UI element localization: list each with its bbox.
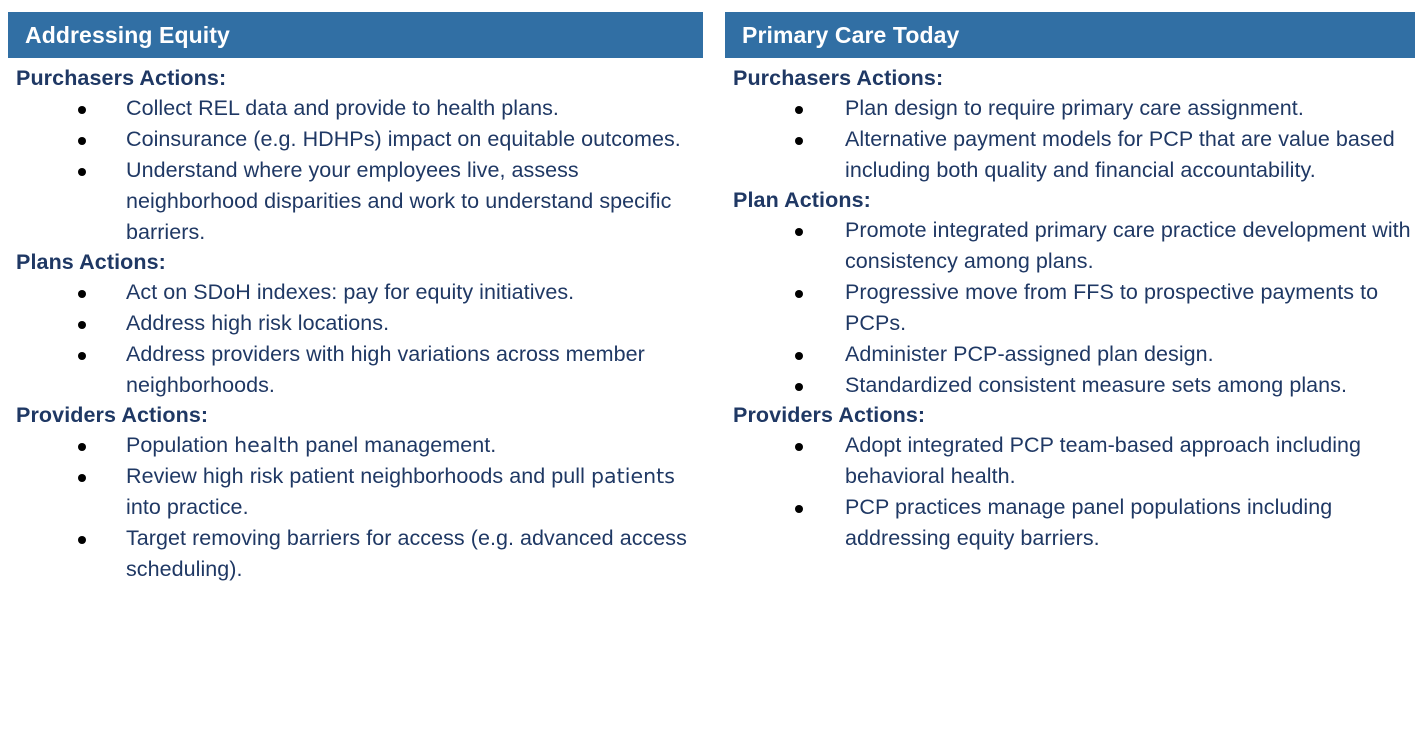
panel-primary-care-today: Primary Care Today Purchasers Actions: P… (711, 0, 1423, 745)
list-item: Coinsurance (e.g. HDHPs) impact on equit… (8, 124, 703, 155)
bullet-list-plan-actions-right: Promote integrated primary care practice… (725, 215, 1415, 401)
list-item: Review high risk patient neighborhoods a… (8, 461, 703, 523)
section-heading-providers-actions-right: Providers Actions: (733, 402, 1415, 429)
list-item: Collect REL data and provide to health p… (8, 93, 703, 124)
list-item: Progressive move from FFS to prospective… (725, 277, 1415, 339)
list-item: Promote integrated primary care practice… (725, 215, 1415, 277)
list-item: Target removing barriers for access (e.g… (8, 523, 703, 585)
alt-face-word: patients (591, 464, 675, 488)
list-item: Address providers with high variations a… (8, 339, 703, 401)
list-item: Alternative payment models for PCP that … (725, 124, 1415, 186)
list-item: Address high risk locations. (8, 308, 703, 339)
slide-root: Addressing Equity Purchasers Actions: Co… (0, 0, 1423, 745)
panel-title-primary-care-today: Primary Care Today (725, 12, 1415, 58)
list-item: Population health panel management. (8, 430, 703, 461)
list-item: Administer PCP-assigned plan design. (725, 339, 1415, 370)
bullet-list-plans-actions-left: Act on SDoH indexes: pay for equity init… (8, 277, 703, 401)
panel-addressing-equity: Addressing Equity Purchasers Actions: Co… (0, 0, 711, 745)
panel-body-addressing-equity: Purchasers Actions: Collect REL data and… (8, 58, 703, 585)
section-heading-providers-actions-left: Providers Actions: (16, 402, 703, 429)
list-item: Plan design to require primary care assi… (725, 93, 1415, 124)
section-heading-plans-actions-left: Plans Actions: (16, 249, 703, 276)
two-column-layout: Addressing Equity Purchasers Actions: Co… (0, 0, 1423, 745)
panel-title-addressing-equity: Addressing Equity (8, 12, 703, 58)
alt-face-word: health (234, 433, 299, 457)
section-heading-plan-actions-right: Plan Actions: (733, 187, 1415, 214)
bullet-list-providers-actions-right: Adopt integrated PCP team-based approach… (725, 430, 1415, 554)
list-item: PCP practices manage panel populations i… (725, 492, 1415, 554)
list-item: Standardized consistent measure sets amo… (725, 370, 1415, 401)
panel-body-primary-care-today: Purchasers Actions: Plan design to requi… (725, 58, 1415, 554)
bullet-list-providers-actions-left: Population health panel management. Revi… (8, 430, 703, 585)
bullet-list-purchasers-actions-left: Collect REL data and provide to health p… (8, 93, 703, 248)
section-heading-purchasers-actions-right: Purchasers Actions: (733, 65, 1415, 92)
bullet-list-purchasers-actions-right: Plan design to require primary care assi… (725, 93, 1415, 186)
list-item: Adopt integrated PCP team-based approach… (725, 430, 1415, 492)
list-item: Act on SDoH indexes: pay for equity init… (8, 277, 703, 308)
section-heading-purchasers-actions-left: Purchasers Actions: (16, 65, 703, 92)
list-item: Understand where your employees live, as… (8, 155, 703, 248)
